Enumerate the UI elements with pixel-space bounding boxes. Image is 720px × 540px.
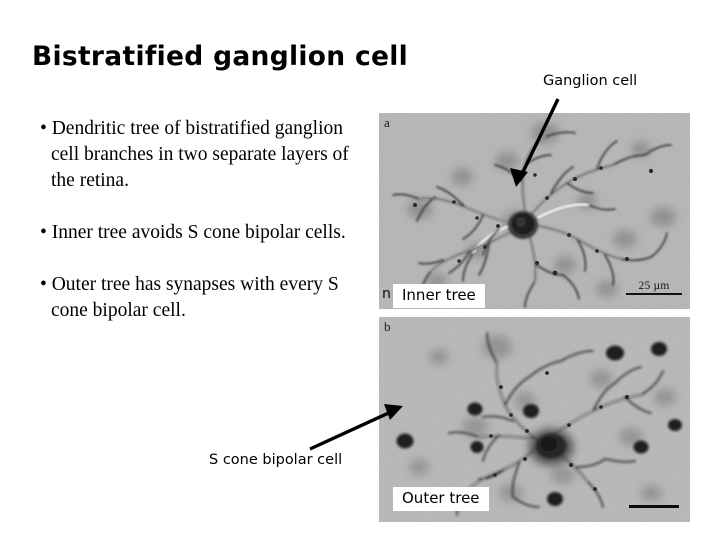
scale-bar-label: 25 µm xyxy=(626,280,682,292)
panel-letter-b: b xyxy=(384,319,391,335)
scale-bar-panel-a: 25 µm xyxy=(626,280,682,295)
callout-label-s-cone-bipolar-cell: S cone bipolar cell xyxy=(209,452,342,468)
bullet-list: • Dendritic tree of bistratified ganglio… xyxy=(40,116,360,324)
scale-bar-line xyxy=(626,293,682,295)
bullet-item-3: • Outer tree has synapses with every S c… xyxy=(40,272,360,324)
page-title: Bistratified ganglion cell xyxy=(32,41,408,72)
bullet-item-2: • Inner tree avoids S cone bipolar cells… xyxy=(40,220,360,246)
scale-bar-panel-b xyxy=(629,505,679,508)
bullet-item-1: • Dendritic tree of bistratified ganglio… xyxy=(40,116,360,194)
slide-canvas: Bistratified ganglion cell • Dendritic t… xyxy=(0,0,720,540)
callout-label-ganglion-cell: Ganglion cell xyxy=(543,73,637,89)
panel-caption-inner-tree: Inner tree xyxy=(393,284,485,308)
stray-glyph: n xyxy=(382,286,391,302)
panel-letter-a: a xyxy=(384,115,390,131)
panel-caption-outer-tree: Outer tree xyxy=(393,487,489,511)
